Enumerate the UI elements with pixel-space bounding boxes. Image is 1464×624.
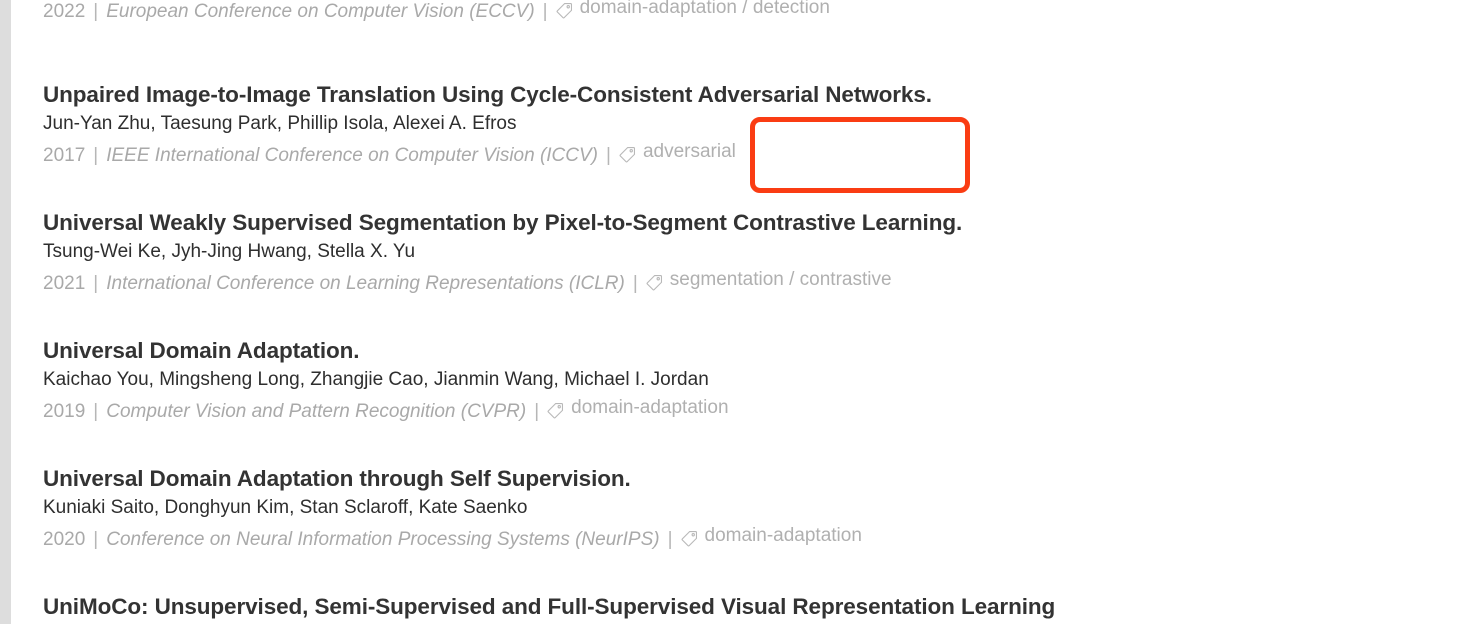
- tag-text: domain-adaptation: [571, 394, 728, 422]
- paper-venue: Computer Vision and Pattern Recognition …: [106, 398, 526, 426]
- meta-separator: |: [85, 398, 106, 426]
- paper-authors: Kuniaki Saito, Donghyun Kim, Stan Sclaro…: [43, 494, 862, 522]
- list-item[interactable]: Unpaired Image-to-Image Translation Usin…: [11, 80, 932, 170]
- paper-meta: 2019 | Computer Vision and Pattern Recog…: [43, 394, 729, 426]
- paper-title[interactable]: UniMoCo: Unsupervised, Semi-Supervised a…: [43, 592, 1055, 622]
- meta-separator: |: [625, 270, 646, 298]
- meta-separator: |: [85, 0, 106, 26]
- list-item[interactable]: UniMoCo: Unsupervised, Semi-Supervised a…: [11, 592, 1055, 622]
- list-item[interactable]: Universal Domain Adaptation through Self…: [11, 464, 862, 554]
- paper-venue: International Conference on Learning Rep…: [106, 270, 625, 298]
- meta-separator: |: [85, 142, 106, 170]
- paper-tags[interactable]: domain-adaptation / detection: [556, 0, 830, 22]
- paper-venue: European Conference on Computer Vision (…: [106, 0, 534, 26]
- results-list: Jayeon Yoo, Inseop Chung, Nojun Kwak 202…: [11, 0, 1464, 624]
- tag-text: segmentation / contrastive: [670, 266, 892, 294]
- paper-title[interactable]: Universal Domain Adaptation through Self…: [43, 464, 862, 494]
- tag-icon: [681, 530, 698, 547]
- tag-icon: [619, 146, 636, 163]
- list-item[interactable]: Universal Weakly Supervised Segmentation…: [11, 208, 962, 298]
- paper-meta: 2022 | European Conference on Computer V…: [43, 0, 830, 26]
- left-gutter-strip: [0, 0, 11, 624]
- paper-title[interactable]: Universal Domain Adaptation.: [43, 336, 729, 366]
- paper-year: 2021: [43, 270, 85, 298]
- list-item[interactable]: Jayeon Yoo, Inseop Chung, Nojun Kwak 202…: [11, 0, 830, 26]
- paper-venue: Conference on Neural Information Process…: [106, 526, 659, 554]
- paper-authors: Tsung-Wei Ke, Jyh-Jing Hwang, Stella X. …: [43, 238, 962, 266]
- list-item[interactable]: Universal Domain Adaptation. Kaichao You…: [11, 336, 729, 426]
- meta-separator: |: [535, 0, 556, 26]
- meta-separator: |: [660, 526, 681, 554]
- paper-authors: Jun-Yan Zhu, Taesung Park, Phillip Isola…: [43, 110, 932, 138]
- meta-separator: |: [526, 398, 547, 426]
- paper-search-results-page: Jayeon Yoo, Inseop Chung, Nojun Kwak 202…: [0, 0, 1464, 624]
- paper-tags-adversarial[interactable]: adversarial: [619, 138, 736, 166]
- tag-icon: [547, 402, 564, 419]
- paper-year: 2017: [43, 142, 85, 170]
- tag-text: adversarial: [643, 138, 736, 166]
- tag-icon: [556, 2, 573, 19]
- paper-meta: 2017 | IEEE International Conference on …: [43, 138, 932, 170]
- paper-meta: 2020 | Conference on Neural Information …: [43, 522, 862, 554]
- meta-separator: |: [85, 270, 106, 298]
- tag-text: domain-adaptation: [705, 522, 862, 550]
- paper-title[interactable]: Unpaired Image-to-Image Translation Usin…: [43, 80, 932, 110]
- paper-tags[interactable]: segmentation / contrastive: [646, 266, 892, 294]
- tag-icon: [646, 274, 663, 291]
- paper-year: 2019: [43, 398, 85, 426]
- paper-title[interactable]: Universal Weakly Supervised Segmentation…: [43, 208, 962, 238]
- paper-tags[interactable]: domain-adaptation: [681, 522, 862, 550]
- paper-meta: 2021 | International Conference on Learn…: [43, 266, 962, 298]
- paper-year: 2022: [43, 0, 85, 26]
- paper-authors: Kaichao You, Mingsheng Long, Zhangjie Ca…: [43, 366, 729, 394]
- paper-year: 2020: [43, 526, 85, 554]
- meta-separator: |: [598, 142, 619, 170]
- paper-tags[interactable]: domain-adaptation: [547, 394, 728, 422]
- meta-separator: |: [85, 526, 106, 554]
- tag-text: domain-adaptation / detection: [580, 0, 830, 22]
- paper-venue: IEEE International Conference on Compute…: [106, 142, 598, 170]
